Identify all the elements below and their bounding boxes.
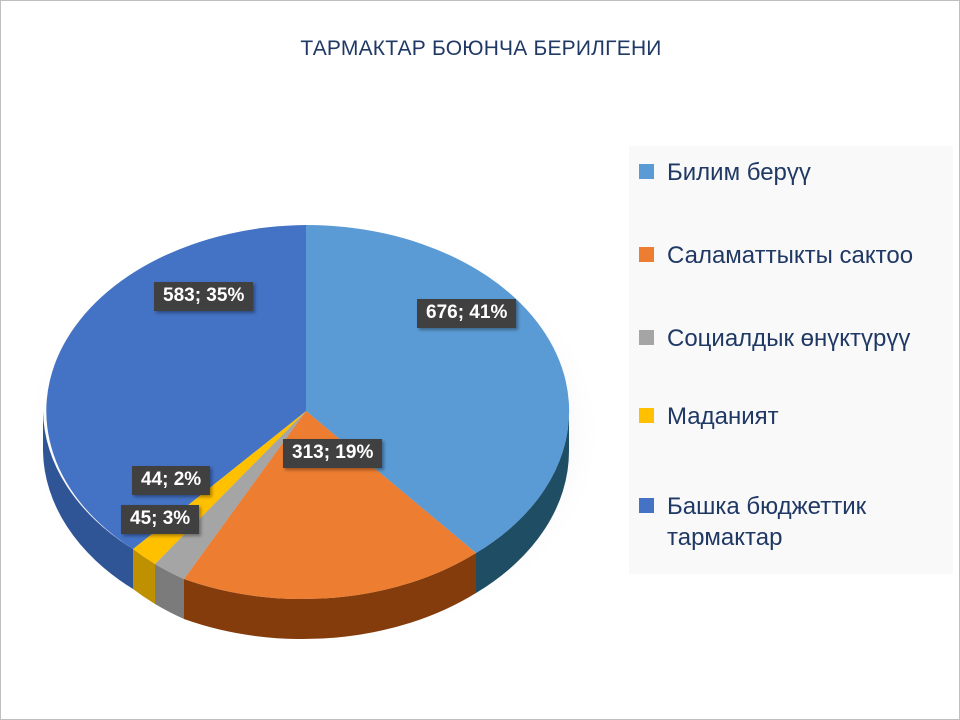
data-label-culture: 44; 2%	[132, 466, 210, 495]
data-label-health: 313; 19%	[283, 439, 382, 468]
legend-swatch-health	[639, 247, 654, 262]
legend-item-social[interactable]: Социалдык өнүктүрүү	[639, 323, 947, 354]
legend-label-other: Башка бюджеттик тармактар	[667, 491, 947, 553]
legend-label-education: Билим берүү	[667, 157, 811, 188]
legend-swatch-culture	[639, 408, 654, 423]
legend-label-social: Социалдык өнүктүрүү	[667, 323, 910, 354]
pie-chart: 676; 41% 313; 19% 45; 3% 44; 2% 583; 35%	[21, 121, 631, 661]
legend-swatch-social	[639, 330, 654, 345]
legend-item-other[interactable]: Башка бюджеттик тармактар	[639, 491, 947, 553]
chart-legend: Билим берүү Саламаттыкты сактоо Социалды…	[629, 146, 953, 574]
legend-label-culture: Маданият	[667, 401, 779, 432]
legend-item-culture[interactable]: Маданият	[639, 401, 947, 432]
data-label-education: 676; 41%	[417, 299, 516, 328]
legend-item-education[interactable]: Билим берүү	[639, 157, 947, 188]
legend-swatch-education	[639, 164, 654, 179]
legend-swatch-other	[639, 498, 654, 513]
legend-item-health[interactable]: Саламаттыкты сактоо	[639, 240, 947, 271]
slide-canvas: ТАРМАКТАР БОЮНЧА БЕРИЛГЕНИ	[0, 0, 960, 720]
pie-chart-svg	[21, 121, 631, 661]
data-label-other: 583; 35%	[154, 282, 253, 311]
data-label-social: 45; 3%	[121, 505, 199, 534]
legend-label-health: Саламаттыкты сактоо	[667, 240, 913, 271]
chart-title: ТАРМАКТАР БОЮНЧА БЕРИЛГЕНИ	[1, 37, 960, 61]
